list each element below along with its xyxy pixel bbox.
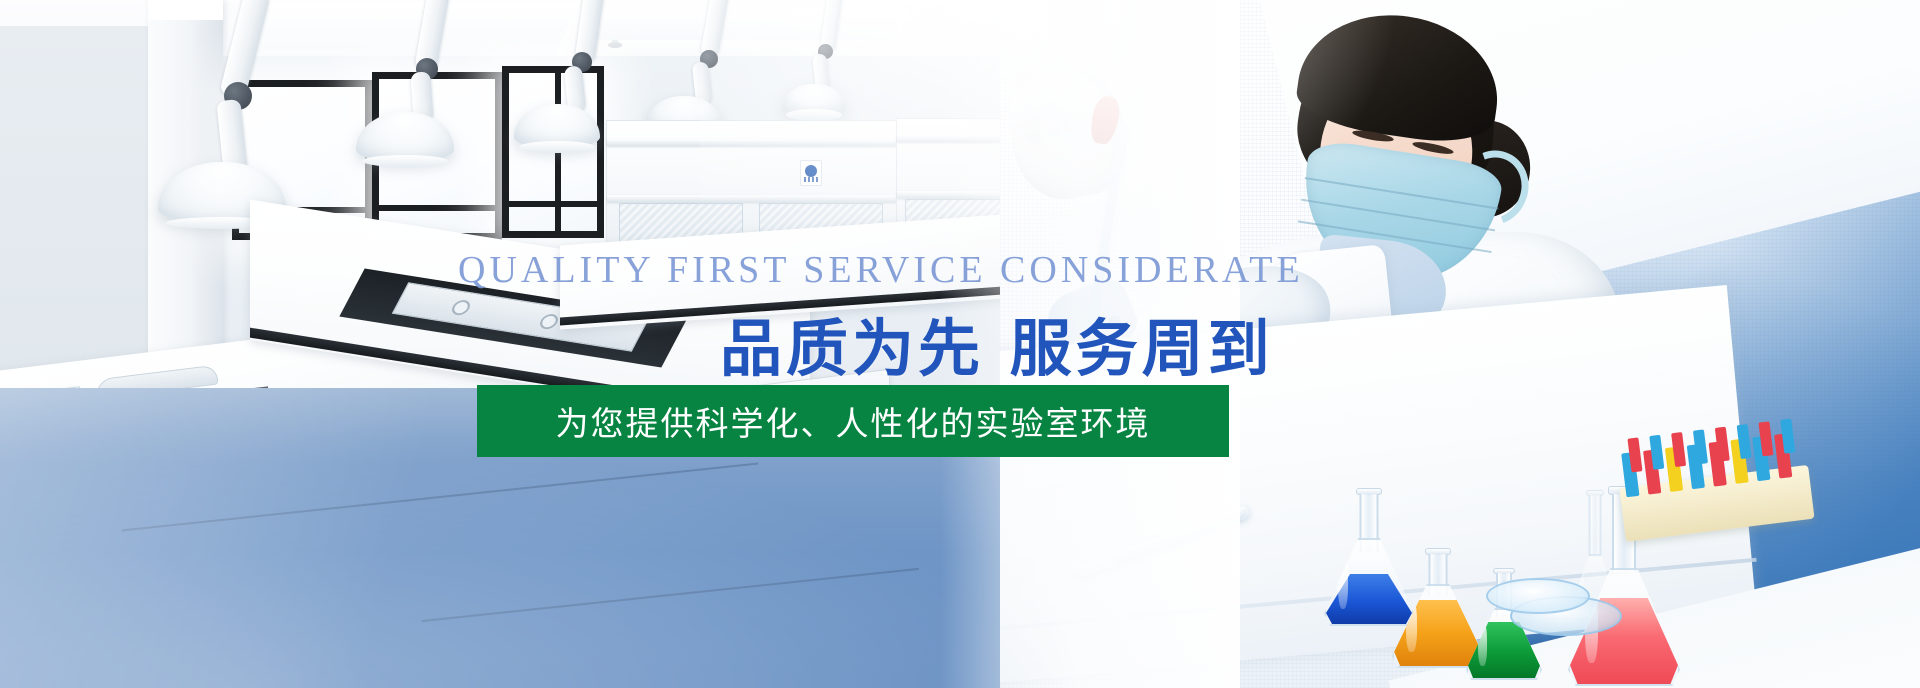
safety-badge-icon xyxy=(800,160,822,186)
ceiling-light-panel xyxy=(233,4,579,58)
petri-dish-lid xyxy=(1486,578,1590,614)
lab-promo-banner: QUALITY FIRST SERVICE CONSIDERATE 品质为先 服… xyxy=(0,0,1920,688)
window-mullion xyxy=(509,201,597,207)
english-tagline: QUALITY FIRST SERVICE CONSIDERATE xyxy=(458,248,1304,292)
chinese-subtitle: 为您提供科学化、人性化的实验室环境 xyxy=(556,397,1151,445)
chinese-headline: 品质为先 服务周到 xyxy=(720,298,1274,388)
ceiling-light-panel xyxy=(594,10,906,40)
pillar-cap xyxy=(148,0,223,20)
subtitle-green-bar: 为您提供科学化、人性化的实验室环境 xyxy=(477,385,1229,457)
window-mullion xyxy=(379,205,495,211)
